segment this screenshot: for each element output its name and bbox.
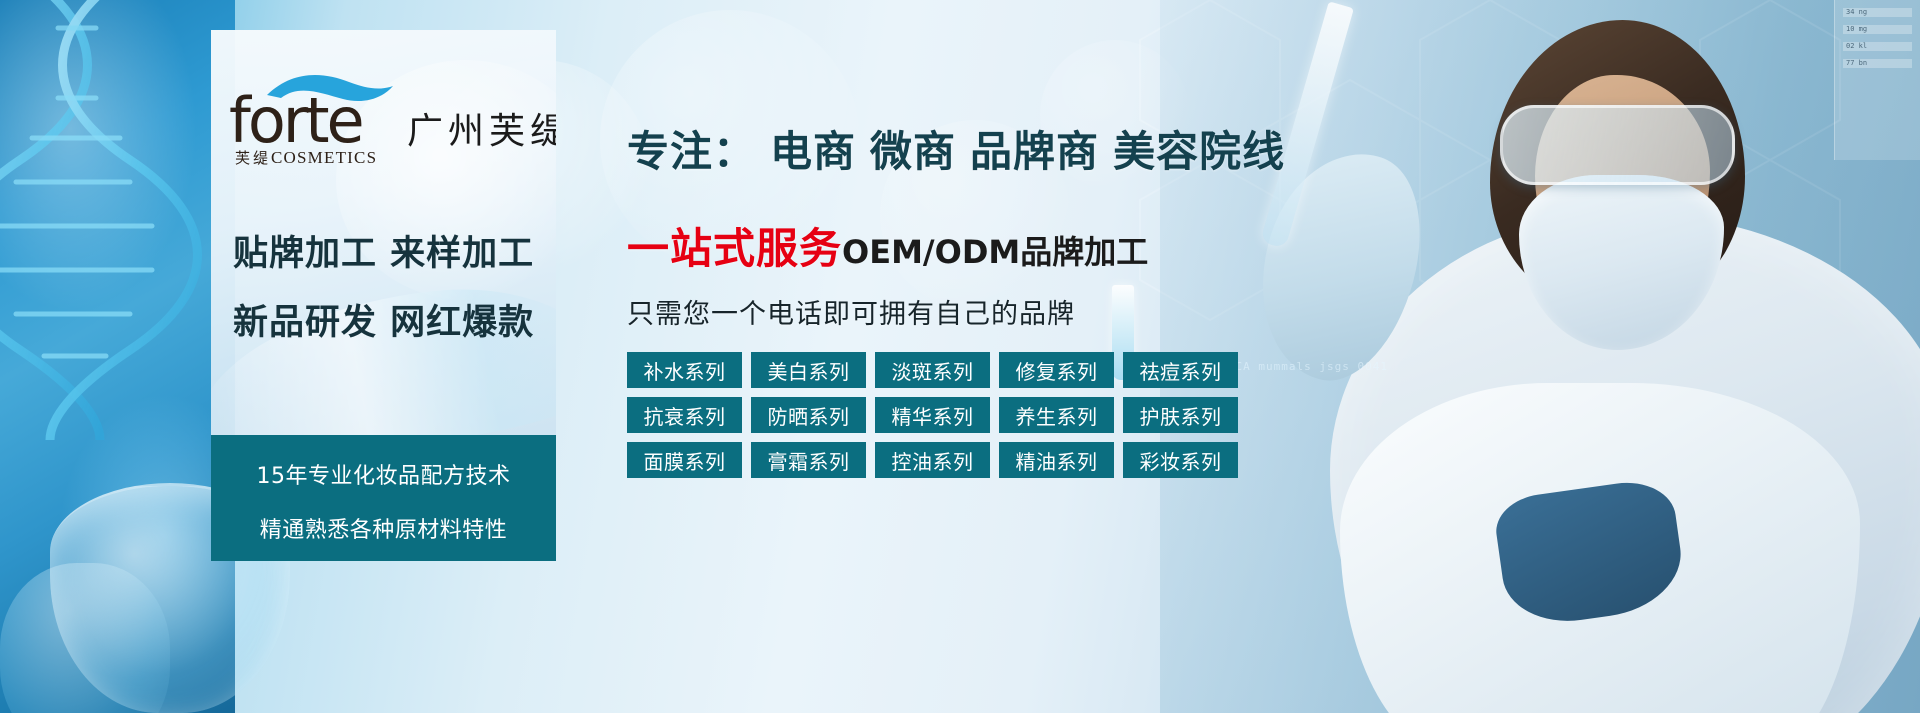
service-headline-red: 一站式服务	[627, 215, 842, 276]
scientist-hair	[1490, 20, 1745, 310]
product-series-tag[interactable]: 防晒系列	[751, 397, 866, 433]
product-series-tag[interactable]: 淡斑系列	[875, 352, 990, 388]
credential-line-2: 精通熟悉各种原材料特性	[211, 512, 556, 544]
safety-goggles-icon	[1500, 105, 1735, 185]
data-readout-row: 10 mg	[1843, 25, 1912, 34]
left-water-backdrop	[0, 0, 235, 713]
face-mask-icon	[1519, 175, 1724, 350]
headline-item-2: 品牌商	[970, 127, 1099, 176]
product-series-row: 抗衰系列 防晒系列 精华系列 养生系列 护肤系列	[627, 397, 1238, 433]
logo-row: forte 芙缇COSMETICS 广州芙缇	[229, 92, 556, 168]
product-series-tag[interactable]: 抗衰系列	[627, 397, 742, 433]
product-series-tag[interactable]: 补水系列	[627, 352, 742, 388]
promo-banner: 34 ng 10 mg 02 kl 77 bn AI ICA mummals j…	[0, 0, 1920, 713]
scientist-body	[1330, 213, 1920, 713]
logo-subtitle-cn: 芙缇	[235, 149, 271, 167]
logo-subtitle: 芙缇COSMETICS	[235, 147, 391, 168]
headline-label: 专注：	[627, 127, 756, 176]
scientist-photo-region	[1160, 0, 1920, 713]
product-series-tag[interactable]: 祛痘系列	[1123, 352, 1238, 388]
product-series-tag[interactable]: 养生系列	[999, 397, 1114, 433]
credentials-card: 15年专业化妆品配方技术 精通熟悉各种原材料特性	[211, 435, 556, 561]
product-series-tag[interactable]: 精油系列	[999, 442, 1114, 478]
headline-item-1: 微商	[870, 127, 956, 176]
product-series-tag[interactable]: 护肤系列	[1123, 397, 1238, 433]
main-headline: 专注：电商微商品牌商美容院线	[627, 118, 1285, 179]
product-series-tag[interactable]: 精华系列	[875, 397, 990, 433]
data-readout-panel: 34 ng 10 mg 02 kl 77 bn	[1834, 0, 1920, 160]
product-series-row: 面膜系列 膏霜系列 控油系列 精油系列 彩妆系列	[627, 442, 1238, 478]
product-series-tag[interactable]: 美白系列	[751, 352, 866, 388]
brand-name-cn: 广州芙缇	[407, 102, 556, 154]
headline-item-0: 电商	[770, 127, 856, 176]
scientist-backdrop	[1160, 0, 1920, 713]
beaker-secondary	[0, 563, 170, 713]
credential-line-1: 15年专业化妆品配方技术	[211, 458, 556, 490]
logo-block: forte 芙缇COSMETICS	[229, 92, 391, 168]
service-headline: 一站式服务 OEM/ODM品牌加工	[627, 215, 1148, 276]
shirt-collar	[1492, 476, 1688, 630]
scientist-face	[1535, 75, 1710, 290]
product-series-tag[interactable]: 控油系列	[875, 442, 990, 478]
product-series-grid: 补水系列 美白系列 淡斑系列 修复系列 祛痘系列 抗衰系列 防晒系列 精华系列 …	[627, 352, 1238, 478]
headline-item-3: 美容院线	[1113, 127, 1285, 176]
product-series-tag[interactable]: 修复系列	[999, 352, 1114, 388]
data-readout-row: 77 bn	[1843, 59, 1912, 68]
service-headline-dark: OEM/ODM品牌加工	[842, 227, 1148, 273]
data-readout-row: 34 ng	[1843, 8, 1912, 17]
data-readout-row: 02 kl	[1843, 42, 1912, 51]
product-series-row: 补水系列 美白系列 淡斑系列 修复系列 祛痘系列	[627, 352, 1238, 388]
lab-coat	[1340, 383, 1860, 713]
logo-subtitle-en: COSMETICS	[271, 148, 377, 167]
card-headline-1: 贴牌加工 来样加工	[233, 225, 556, 276]
card-headline-2: 新品研发 网红爆款	[233, 294, 556, 345]
product-series-tag[interactable]: 膏霜系列	[751, 442, 866, 478]
swoosh-icon	[265, 74, 395, 104]
decor-data-text: AI ICA mummals jsgs 0041	[1205, 360, 1435, 390]
product-series-tag[interactable]: 面膜系列	[627, 442, 742, 478]
subheadline: 只需您一个电话即可拥有自己的品牌	[627, 292, 1075, 331]
product-series-tag[interactable]: 彩妆系列	[1123, 442, 1238, 478]
brand-card: forte 芙缇COSMETICS 广州芙缇 贴牌加工 来样加工 新品研发 网红…	[211, 30, 556, 435]
